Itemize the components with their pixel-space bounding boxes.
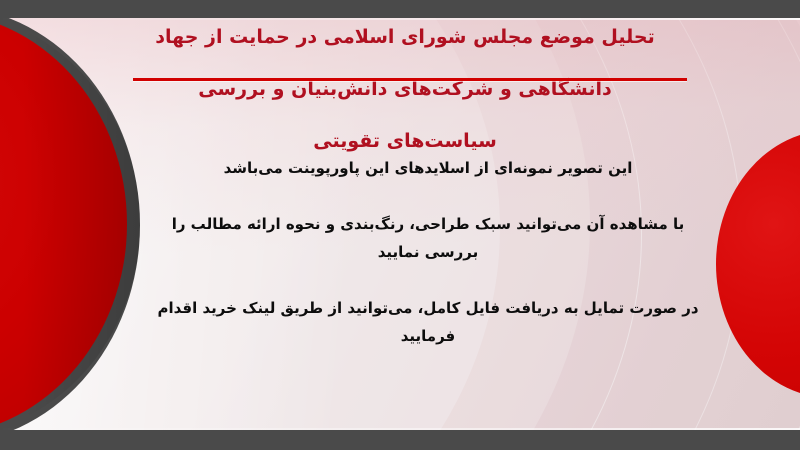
red-horizontal-rule <box>133 78 687 81</box>
red-ellipse-right <box>716 130 800 398</box>
slide-body: این تصویر نمونه‌ای از اسلایدهای این پاور… <box>150 126 706 378</box>
slide-body-line-2: با مشاهده آن می‌توانید سبک طراحی، رنگ‌بن… <box>150 210 706 266</box>
slide-title-line-1: تحلیل موضع مجلس شورای اسلامی در حمایت از… <box>155 26 654 48</box>
slide-body-line-1: این تصویر نمونه‌ای از اسلایدهای این پاور… <box>150 154 706 182</box>
slide-canvas: تحلیل موضع مجلس شورای اسلامی در حمایت از… <box>0 0 800 450</box>
dark-gray-band-bottom <box>0 430 800 450</box>
slide-body-line-3: در صورت تمایل به دریافت فایل کامل، می‌تو… <box>150 294 706 350</box>
slide-title-line-2: دانشگاهی و شرکت‌های دانش‌بنیان و بررسی <box>198 78 611 100</box>
